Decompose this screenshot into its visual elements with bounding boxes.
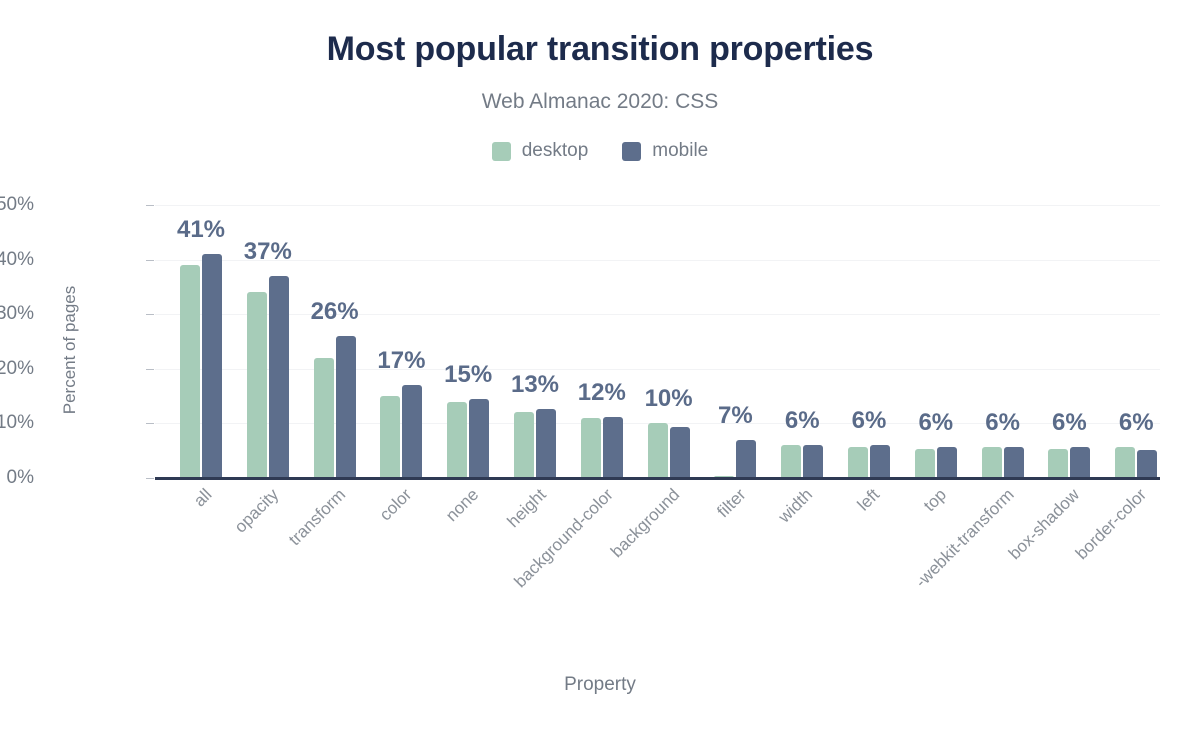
x-axis-baseline	[155, 477, 1160, 480]
bar-group	[1048, 205, 1090, 478]
bar-group	[514, 205, 556, 478]
bar-value-label: 10%	[645, 385, 693, 413]
legend-item-desktop[interactable]: desktop	[492, 140, 589, 162]
y-tick-mark	[146, 478, 154, 479]
bar-mobile[interactable]	[870, 445, 890, 478]
bar-desktop[interactable]	[1115, 447, 1135, 478]
y-tick-mark	[146, 205, 154, 206]
bar-desktop[interactable]	[581, 418, 601, 478]
legend-item-mobile[interactable]: mobile	[622, 140, 708, 162]
bar-desktop[interactable]	[781, 445, 801, 478]
bar-desktop[interactable]	[447, 402, 467, 478]
bar-mobile[interactable]	[1137, 450, 1157, 478]
y-tick-mark	[146, 314, 154, 315]
bar-mobile[interactable]	[536, 409, 556, 478]
bar-mobile[interactable]	[402, 385, 422, 478]
bar-desktop[interactable]	[380, 396, 400, 478]
x-tick-label: background	[607, 485, 684, 562]
legend-swatch-mobile	[622, 142, 641, 161]
y-tick-mark	[146, 260, 154, 261]
bar-value-label: 6%	[1119, 409, 1154, 437]
bar-value-label: 6%	[918, 409, 953, 437]
y-tick-label: 20%	[0, 358, 34, 380]
bar-desktop[interactable]	[514, 412, 534, 478]
y-tick-label: 30%	[0, 303, 34, 325]
x-tick-label: left	[854, 485, 884, 515]
bar-group	[714, 205, 756, 478]
bar-value-label: 6%	[985, 409, 1020, 437]
chart-legend: desktop mobile	[0, 140, 1200, 162]
x-tick-label: width	[775, 485, 817, 527]
bar-value-label: 6%	[852, 407, 887, 435]
bar-mobile[interactable]	[803, 445, 823, 478]
page-title: Most popular transition properties	[0, 30, 1200, 69]
bar-group	[848, 205, 890, 478]
bar-desktop[interactable]	[648, 423, 668, 478]
bar-desktop[interactable]	[314, 358, 334, 478]
bar-value-label: 15%	[444, 361, 492, 389]
bar-desktop[interactable]	[180, 265, 200, 478]
y-tick-label: 10%	[0, 412, 34, 434]
x-tick-label: none	[442, 485, 483, 526]
chart-subtitle: Web Almanac 2020: CSS	[0, 90, 1200, 114]
bar-value-label: 7%	[718, 402, 753, 430]
x-axis-title: Property	[0, 674, 1200, 696]
bar-mobile[interactable]	[1004, 447, 1024, 478]
x-tick-label: opacity	[231, 485, 283, 537]
bar-value-label: 26%	[311, 298, 359, 326]
bar-group	[380, 205, 422, 478]
bar-group	[781, 205, 823, 478]
x-tick-label: border-color	[1072, 485, 1151, 564]
bar-desktop[interactable]	[1048, 449, 1068, 478]
y-tick-mark	[146, 369, 154, 370]
legend-label-desktop: desktop	[522, 140, 589, 162]
x-tick-label: transform	[285, 485, 350, 550]
legend-label-mobile: mobile	[652, 140, 708, 162]
bar-mobile[interactable]	[736, 440, 756, 478]
bar-desktop[interactable]	[848, 447, 868, 478]
bar-value-label: 13%	[511, 371, 559, 399]
bar-value-label: 17%	[377, 347, 425, 375]
bar-group	[447, 205, 489, 478]
y-axis-title: Percent of pages	[60, 270, 80, 430]
bar-mobile[interactable]	[469, 399, 489, 478]
bar-mobile[interactable]	[937, 447, 957, 478]
legend-swatch-desktop	[492, 142, 511, 161]
bar-value-label: 12%	[578, 379, 626, 407]
x-tick-label: all	[190, 485, 216, 511]
y-tick-label: 50%	[0, 194, 34, 216]
bar-desktop[interactable]	[247, 292, 267, 478]
bar-group	[1115, 205, 1157, 478]
bar-group	[648, 205, 690, 478]
bar-mobile[interactable]	[670, 427, 690, 478]
y-tick-mark	[146, 423, 154, 424]
bar-mobile[interactable]	[202, 254, 222, 478]
bar-group	[180, 205, 222, 478]
bar-mobile[interactable]	[1070, 447, 1090, 478]
bar-group	[314, 205, 356, 478]
bar-mobile[interactable]	[269, 276, 289, 478]
x-tick-label: color	[376, 485, 416, 525]
bar-group	[581, 205, 623, 478]
bar-value-label: 6%	[1052, 409, 1087, 437]
x-tick-label: height	[504, 485, 551, 532]
chart-figure: Most popular transition properties Web A…	[0, 0, 1200, 742]
bar-desktop[interactable]	[915, 449, 935, 478]
bar-value-label: 37%	[244, 238, 292, 266]
bar-mobile[interactable]	[603, 417, 623, 478]
bar-value-label: 41%	[177, 216, 225, 244]
y-tick-label: 0%	[0, 467, 34, 489]
y-tick-label: 40%	[0, 249, 34, 271]
x-tick-label: filter	[714, 485, 751, 522]
x-tick-label: top	[920, 485, 951, 516]
bar-mobile[interactable]	[336, 336, 356, 478]
bar-desktop[interactable]	[982, 447, 1002, 478]
bar-value-label: 6%	[785, 407, 820, 435]
